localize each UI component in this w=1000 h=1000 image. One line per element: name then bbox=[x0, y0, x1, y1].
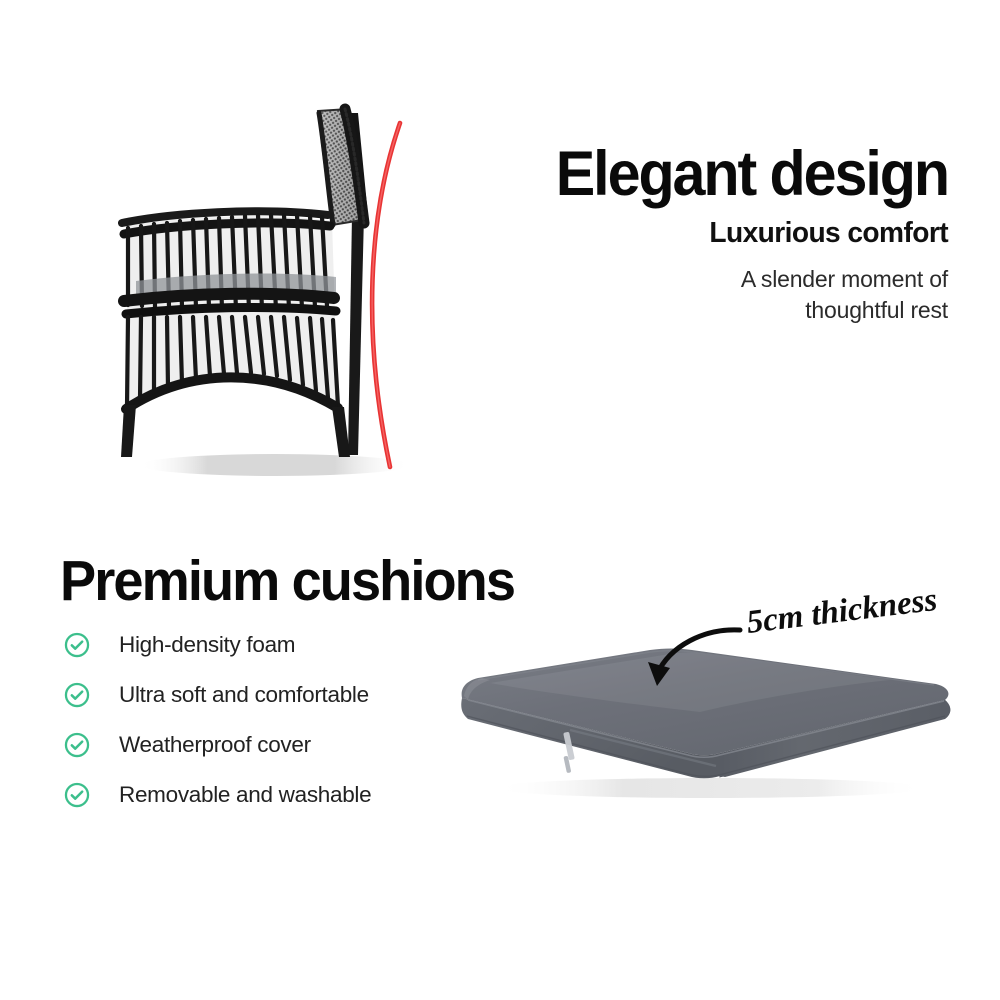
cushions-section-title: Premium cushions bbox=[60, 548, 514, 614]
check-circle-icon bbox=[64, 632, 90, 658]
red-accent-curve bbox=[372, 123, 400, 467]
cushion-top-face bbox=[462, 649, 949, 756]
rattan-chair-illustration bbox=[100, 95, 450, 495]
page-title: Elegant design bbox=[470, 142, 948, 206]
list-item: Removable and washable bbox=[64, 770, 444, 820]
chair-backrest-mesh bbox=[305, 100, 375, 235]
chair-front-leg bbox=[121, 405, 136, 457]
feature-label: Removable and washable bbox=[119, 782, 371, 808]
feature-list: High-density foam Ultra soft and comfort… bbox=[64, 620, 444, 820]
hero-tagline-line1: A slender moment of bbox=[440, 264, 948, 294]
feature-label: High-density foam bbox=[119, 632, 295, 658]
thickness-annotation: 5cm thickness bbox=[600, 588, 960, 708]
check-circle-icon bbox=[64, 782, 90, 808]
cushion-left-face bbox=[461, 698, 720, 778]
cushion-piping-seam bbox=[468, 700, 944, 757]
hero-tagline: A slender moment of thoughtful rest bbox=[440, 264, 948, 325]
list-item: High-density foam bbox=[64, 620, 444, 670]
chair-rear-leg bbox=[332, 407, 350, 457]
feature-label: Ultra soft and comfortable bbox=[119, 682, 369, 708]
product-feature-image: Elegant design Luxurious comfort A slend… bbox=[0, 0, 1000, 1000]
cushion-illustration bbox=[420, 580, 980, 830]
chair-lower-slats bbox=[127, 317, 338, 407]
hero-subhead: Luxurious comfort bbox=[455, 217, 948, 250]
feature-label: Weatherproof cover bbox=[119, 732, 311, 758]
check-circle-icon bbox=[64, 682, 90, 708]
list-item: Weatherproof cover bbox=[64, 720, 444, 770]
hero-tagline-line2: thoughtful rest bbox=[440, 295, 948, 325]
thickness-label: 5cm thickness bbox=[745, 588, 940, 641]
check-circle-icon bbox=[64, 732, 90, 758]
curved-arrow-icon bbox=[648, 630, 740, 686]
cushion-zipper bbox=[563, 730, 716, 773]
hero-text-block: Elegant design Luxurious comfort A slend… bbox=[440, 142, 948, 325]
chair-upper-slats bbox=[128, 215, 327, 309]
cushion-front-face bbox=[719, 700, 950, 777]
list-item: Ultra soft and comfortable bbox=[64, 670, 444, 720]
cushion-shadow bbox=[495, 778, 925, 798]
chair-shadow bbox=[140, 454, 410, 476]
